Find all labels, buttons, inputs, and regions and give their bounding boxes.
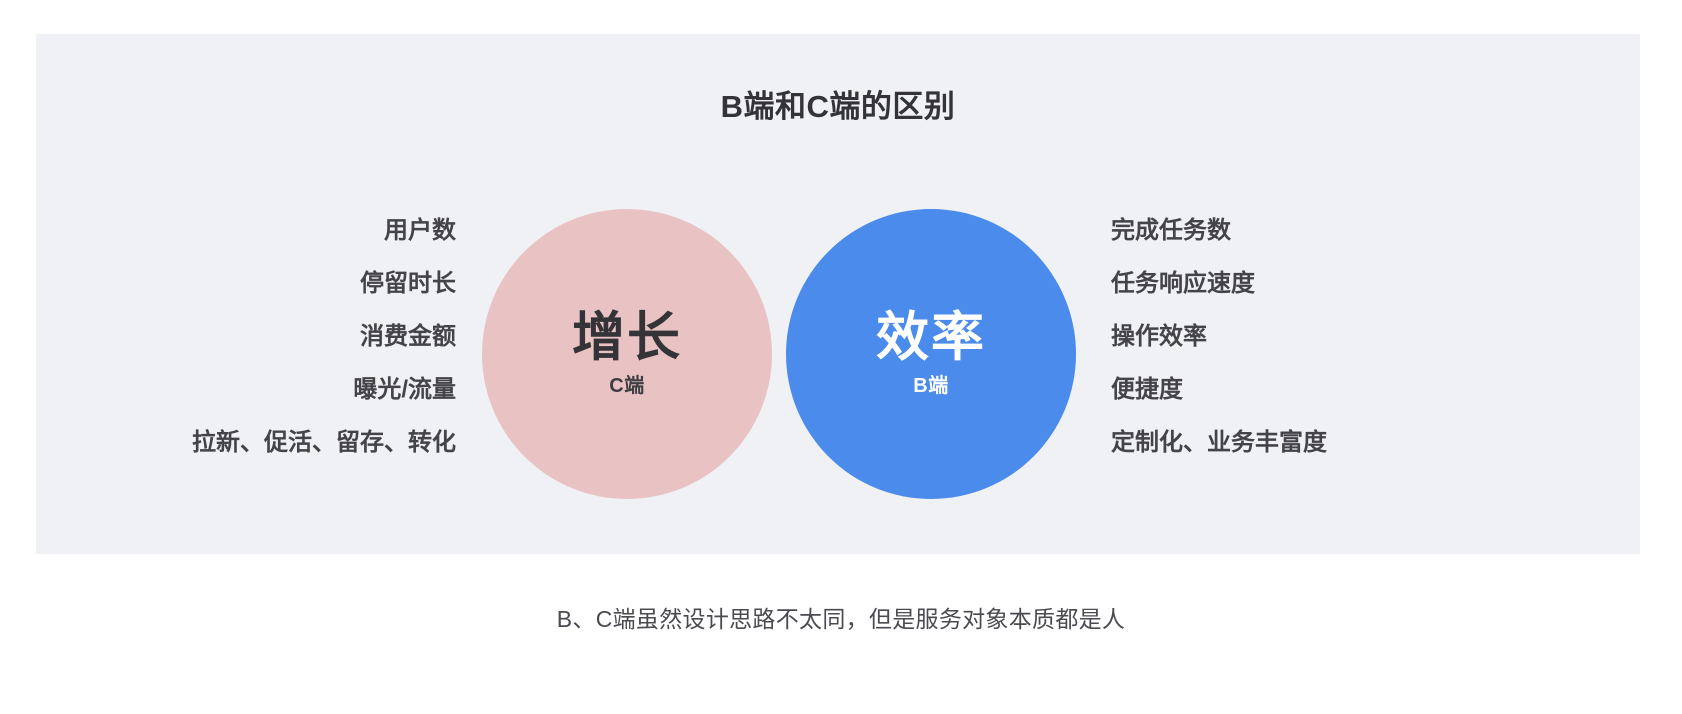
left-metric-item-1: 用户数 — [384, 216, 456, 246]
venn-circle-c-side — [482, 209, 772, 499]
left-metric-item-3: 消费金额 — [360, 322, 456, 352]
left-metric-item-2: 停留时长 — [360, 269, 456, 299]
figure-caption: B、C端虽然设计思路不太同，但是服务对象本质都是人 — [0, 600, 1682, 634]
venn-circle-b-side — [786, 209, 1076, 499]
left-metrics-list: 用户数 停留时长 消费金额 曝光/流量 拉新、促活、留存、转化 — [56, 216, 456, 458]
venn-stage: 用户数 停留时长 消费金额 曝光/流量 拉新、促活、留存、转化 增长 C端 效率… — [36, 194, 1640, 524]
right-metric-item-2: 任务响应速度 — [1111, 269, 1255, 299]
page-title: B端和C端的区别 — [36, 81, 1640, 126]
right-metric-item-4: 便捷度 — [1111, 375, 1183, 405]
venn-diagram-panel: B端和C端的区别 用户数 停留时长 消费金额 曝光/流量 拉新、促活、留存、转化… — [36, 34, 1640, 554]
right-metric-item-1: 完成任务数 — [1111, 216, 1231, 246]
right-metric-item-3: 操作效率 — [1111, 322, 1207, 352]
right-metric-item-5: 定制化、业务丰富度 — [1111, 428, 1327, 458]
left-metric-item-5: 拉新、促活、留存、转化 — [192, 428, 456, 458]
left-metric-item-4: 曝光/流量 — [353, 375, 456, 405]
right-metrics-list: 完成任务数 任务响应速度 操作效率 便捷度 定制化、业务丰富度 — [1111, 216, 1511, 458]
